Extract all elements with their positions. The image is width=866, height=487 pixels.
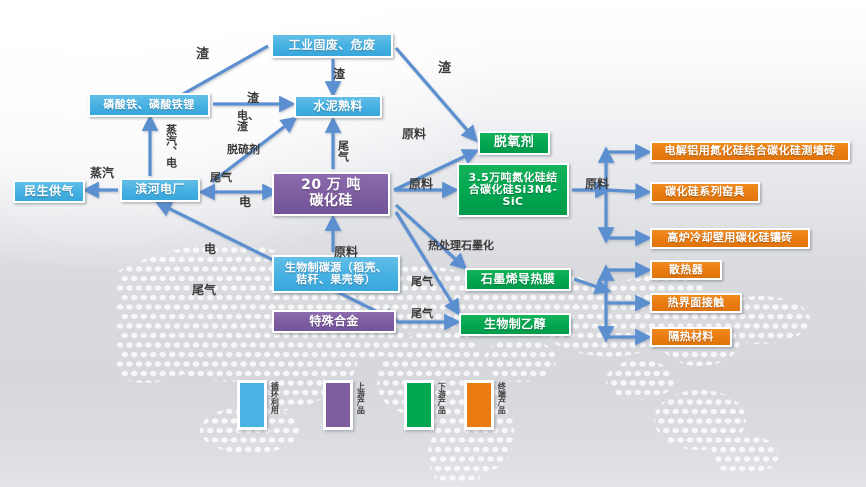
node-thermal-interface[interactable]: 热界面接触	[650, 293, 742, 313]
node-binhe-power[interactable]: 滨河电厂	[120, 178, 200, 202]
node-label-insulation: 隔热材料	[652, 329, 730, 345]
legend-terminal-label: 终端产品	[497, 382, 505, 414]
node-label-blast-furnace: 高炉冷却壁用碳化硅镶砖	[652, 230, 808, 247]
node-special-alloy[interactable]: 特殊合金	[272, 310, 396, 333]
node-label-deoxidizer: 脱氧剂	[480, 133, 548, 153]
node-label-sic-kiln: 碳化硅系列窑具	[652, 184, 758, 201]
legend-downstream: 下游产品	[404, 380, 445, 430]
node-label-iron-phosphate: 磷酸铁、磷酸铁锂	[90, 95, 208, 115]
node-label-heat-sink: 散热器	[652, 262, 720, 278]
node-label-bio-ethanol: 生物制乙醇	[461, 315, 569, 334]
legend-terminal: 终端产品	[464, 380, 505, 430]
legend-recycle-swatch	[237, 380, 267, 430]
node-city-gas[interactable]: 民生供气	[13, 180, 85, 203]
arrow-fanout-to-kiln	[606, 190, 646, 192]
node-label-graphene-film: 石墨烯导热膜	[467, 270, 569, 289]
node-label-city-gas: 民生供气	[15, 182, 83, 201]
arrow-sic-to-ethanol	[396, 212, 457, 311]
node-blast-furnace[interactable]: 高炉冷却壁用碳化硅镶砖	[650, 228, 810, 249]
node-industrial-waste[interactable]: 工业固废、危废	[271, 33, 393, 58]
node-sic-200k[interactable]: 20 万 吨 碳化硅	[272, 172, 390, 216]
legend-downstream-swatch	[404, 380, 434, 430]
node-sic-kiln[interactable]: 碳化硅系列窑具	[650, 182, 760, 203]
arrow-graphene-to-fan	[574, 279, 606, 290]
node-bio-ethanol[interactable]: 生物制乙醇	[459, 313, 571, 336]
node-iron-phosphate[interactable]: 磷酸铁、磷酸铁锂	[88, 93, 210, 117]
legend-upstream-label: 上游产品	[356, 382, 364, 414]
arrow-waste-to-deoxidizer	[396, 48, 474, 138]
node-heat-sink[interactable]: 散热器	[650, 260, 722, 280]
legend-upstream: 上游产品	[323, 380, 364, 430]
node-label-special-alloy: 特殊合金	[274, 312, 394, 331]
node-insulation[interactable]: 隔热材料	[650, 327, 732, 347]
node-label-binhe-power: 滨河电厂	[122, 180, 198, 200]
node-label-sic-200k: 20 万 吨 碳化硅	[274, 174, 388, 214]
node-label-cement-clinker: 水泥熟料	[296, 97, 380, 116]
node-si3n4-sic-35k[interactable]: 3.5万吨氮化硅结 合碳化硅Si3N4- SiC	[457, 163, 569, 217]
node-deoxidizer[interactable]: 脱氧剂	[478, 131, 550, 155]
legend-terminal-swatch	[464, 380, 494, 430]
node-bio-carbon[interactable]: 生物制碳源（稻壳、 秸秆、果壳等）	[272, 255, 400, 293]
node-label-bio-carbon: 生物制碳源（稻壳、 秸秆、果壳等）	[274, 257, 398, 291]
node-cement-clinker[interactable]: 水泥熟料	[294, 95, 382, 118]
legend-upstream-swatch	[323, 380, 353, 430]
arrow-sic-to-graphene	[396, 205, 463, 266]
legend-downstream-label: 下游产品	[437, 382, 445, 414]
node-label-thermal-interface: 热界面接触	[652, 295, 740, 311]
legend-recycle-label: 循环利用	[270, 382, 278, 414]
node-label-industrial-waste: 工业固废、危废	[273, 35, 391, 56]
node-graphene-film[interactable]: 石墨烯导热膜	[465, 268, 571, 291]
diagram-canvas: 工业固废、危废磷酸铁、磷酸铁锂水泥熟料脱氧剂民生供气滨河电厂20 万 吨 碳化硅…	[0, 0, 866, 487]
node-label-al-wall-brick: 电解铝用氮化硅结合碳化硅测墙砖	[652, 143, 848, 160]
legend-recycle: 循环利用	[237, 380, 278, 430]
node-label-si3n4-sic-35k: 3.5万吨氮化硅结 合碳化硅Si3N4- SiC	[459, 165, 567, 215]
node-al-wall-brick[interactable]: 电解铝用氮化硅结合碳化硅测墙砖	[650, 141, 850, 162]
